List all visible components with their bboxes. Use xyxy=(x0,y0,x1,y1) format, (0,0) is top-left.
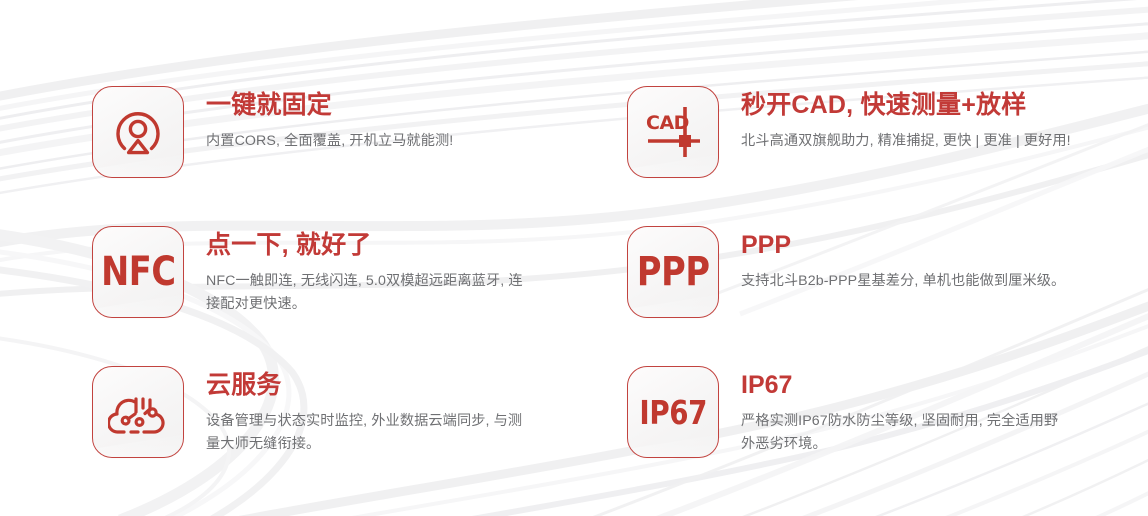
feature-text-block: 云服务 设备管理与状态实时监控, 外业数据云端同步, 与测量大师无缝衔接。 xyxy=(206,366,536,456)
svg-text:CAD: CAD xyxy=(646,112,689,134)
cloud-service-icon xyxy=(92,366,184,458)
feature-title: 一键就固定 xyxy=(206,91,453,121)
feature-title: 点一下, 就好了 xyxy=(206,231,536,261)
feature-card-ppp: PPP PPP 支持北斗B2b-PPP星基差分, 单机也能做到厘米级。 xyxy=(627,226,1148,366)
feature-card-ip67: IP67 IP67 严格实测IP67防水防尘等级, 坚固耐用, 完全适用野外恶劣… xyxy=(627,366,1148,506)
feature-title: PPP xyxy=(741,231,1065,261)
feature-text-block: 一键就固定 内置CORS, 全面覆盖, 开机立马就能测! xyxy=(206,86,453,153)
feature-card-one-key-fix: 一键就固定 内置CORS, 全面覆盖, 开机立马就能测! xyxy=(92,86,627,226)
feature-text-block: 秒开CAD, 快速测量+放样 北斗高通双旗舰助力, 精准捕捉, 更快 | 更准 … xyxy=(741,86,1071,153)
feature-description: 严格实测IP67防水防尘等级, 坚固耐用, 完全适用野外恶劣环境。 xyxy=(741,410,1071,456)
gnss-target-icon xyxy=(92,86,184,178)
nfc-icon-label: NFC xyxy=(101,249,175,295)
feature-description: 设备管理与状态实时监控, 外业数据云端同步, 与测量大师无缝衔接。 xyxy=(206,410,536,456)
feature-description: 支持北斗B2b-PPP星基差分, 单机也能做到厘米级。 xyxy=(741,270,1065,293)
feature-card-cloud-service: 云服务 设备管理与状态实时监控, 外业数据云端同步, 与测量大师无缝衔接。 xyxy=(92,366,627,506)
feature-text-block: 点一下, 就好了 NFC一触即连, 无线闪连, 5.0双模超远距离蓝牙, 连接配… xyxy=(206,226,536,316)
ppp-icon-label: PPP xyxy=(637,249,710,295)
feature-card-nfc: NFC 点一下, 就好了 NFC一触即连, 无线闪连, 5.0双模超远距离蓝牙,… xyxy=(92,226,627,366)
feature-title: 秒开CAD, 快速测量+放样 xyxy=(741,91,1071,121)
feature-title: 云服务 xyxy=(206,371,536,401)
feature-text-block: PPP 支持北斗B2b-PPP星基差分, 单机也能做到厘米级。 xyxy=(741,226,1065,293)
cad-crosshair-glyph: CAD xyxy=(642,103,704,161)
feature-card-cad: CAD 秒开CAD, 快速测量+放样 北斗高通双旗舰助力, 精准捕捉, 更快 |… xyxy=(627,86,1148,226)
nfc-icon: NFC xyxy=(92,226,184,318)
feature-title: IP67 xyxy=(741,371,1071,401)
gnss-target-glyph xyxy=(110,104,166,160)
ip67-icon-label: IP67 xyxy=(639,393,707,432)
ppp-icon: PPP xyxy=(627,226,719,318)
feature-description: 北斗高通双旗舰助力, 精准捕捉, 更快 | 更准 | 更好用! xyxy=(741,130,1071,153)
feature-text-block: IP67 严格实测IP67防水防尘等级, 坚固耐用, 完全适用野外恶劣环境。 xyxy=(741,366,1071,456)
feature-grid: 一键就固定 内置CORS, 全面覆盖, 开机立马就能测! CAD 秒开CAD, … xyxy=(0,0,1148,516)
cad-crosshair-icon: CAD xyxy=(627,86,719,178)
feature-description: NFC一触即连, 无线闪连, 5.0双模超远距离蓝牙, 连接配对更快速。 xyxy=(206,270,536,316)
feature-description: 内置CORS, 全面覆盖, 开机立马就能测! xyxy=(206,130,453,153)
cloud-service-glyph xyxy=(108,386,168,438)
ip67-icon: IP67 xyxy=(627,366,719,458)
